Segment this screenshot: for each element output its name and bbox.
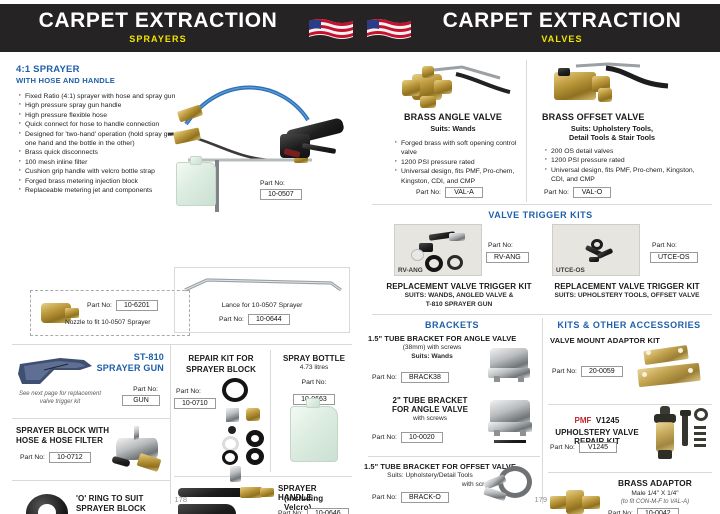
offset-valve-title: BRASS OFFSET VALVE — [542, 112, 702, 122]
list-item: 1200 PSI pressure rated — [542, 156, 702, 165]
offset-valve-card: BRASS OFFSET VALVE Suits: Upholstery Too… — [542, 60, 702, 202]
trigger-kit-photo-label: RV-ANG — [398, 267, 423, 274]
spray-bottle-card: SPRAY BOTTLE 4.73 litres Part No: 10-066… — [274, 350, 354, 472]
part-no-label: Part No: — [219, 316, 244, 323]
repair-kit-title-2: SPRAYER BLOCK — [174, 365, 268, 374]
page-subtitle-right: VALVES — [382, 34, 720, 44]
header-right: CARPET EXTRACTION VALVES — [360, 4, 720, 52]
part-no-label: Part No: — [416, 189, 441, 196]
trigger-kit-caption-1: REPLACEMENT VALVE TRIGGER KIT — [542, 282, 712, 291]
sprayer-gun-note-1: See next page for replacement — [14, 390, 106, 398]
part-no-value[interactable]: VAL-O — [573, 187, 611, 198]
repair-kit-photo — [218, 378, 270, 470]
part-no-value[interactable]: GUN — [122, 395, 160, 406]
page-subtitle-left: SPRAYERS — [0, 34, 338, 44]
offset-valve-feature-list: 200 OS detail valves 1200 PSI pressure r… — [542, 147, 702, 185]
brass-adaptor-card: BRASS ADAPTOR Male 1/4" X 1/4" (to fit C… — [548, 478, 712, 514]
part-no-value[interactable]: 10-0646 — [307, 508, 349, 514]
sprayer-block-photo — [108, 424, 168, 478]
oring-card: 'O' RING TO SUIT SPRAYER BLOCK Part No: … — [12, 488, 170, 514]
header-band: CARPET EXTRACTION SPRAYERS CARPET EXTRAC… — [0, 4, 720, 52]
brackets-heading: BRACKETS — [362, 320, 542, 330]
brass-adaptor-sub-1: Male 1/4" X 1/4" — [600, 489, 710, 498]
oring-title-2: SPRAYER BLOCK — [76, 504, 146, 513]
list-item: Universal design, fits PMF, Pro-chem, Ki… — [542, 166, 702, 185]
sprayer-gun-card: ST-810 SPRAYER GUN See next page for rep… — [12, 350, 168, 414]
trigger-kit-caption-2: SUITS: UPHOLSTERY TOOLS, OFFSET VALVE — [542, 291, 712, 300]
bracket-title-2: FOR ANGLE VALVE — [368, 405, 492, 414]
part-no-value[interactable]: 20-0059 — [581, 366, 623, 377]
bracket-photo — [486, 398, 536, 446]
part-no-value[interactable]: 10-0710 — [174, 398, 216, 409]
part-no-label: Part No: — [260, 180, 285, 187]
sprayer-block-title-2: HOSE & HOSE FILTER — [16, 436, 103, 445]
spray-bottle-subtitle: 4.73 litres — [274, 363, 354, 372]
part-no-label: Part No: — [544, 189, 569, 196]
part-no-label: Part No: — [278, 510, 303, 514]
valve-mount-kit-title: VALVE MOUNT ADAPTOR KIT — [550, 336, 712, 345]
nozzle-card: Part No: 10-6201 Nozzle to fit 10-0507 S… — [30, 290, 190, 336]
angle-valve-card: BRASS ANGLE VALVE Suits: Wands Forged br… — [382, 60, 524, 202]
kits-heading: KITS & OTHER ACCESSORIES — [546, 320, 712, 330]
bracket-card: 1.5" TUBE BRACKET FOR OFFSET VALVE Suits… — [364, 462, 540, 508]
offset-valve-photo — [548, 60, 678, 110]
trigger-kit-card: UTCE-OS Part No: UTCE-OS REPLACEMENT VAL… — [542, 224, 712, 300]
part-no-label: Part No: — [20, 454, 45, 461]
angle-valve-title: BRASS ANGLE VALVE — [382, 112, 524, 122]
repair-kit-card: REPAIR KIT FOR SPRAYER BLOCK Part No: 10… — [174, 350, 268, 472]
part-no-label: Part No: — [372, 434, 397, 441]
list-item: 200 OS detail valves — [542, 147, 702, 156]
offset-valve-subtitle-1: Suits: Upholstery Tools, — [542, 124, 682, 133]
bracket-sub-2: with screws — [364, 480, 496, 489]
bracket-sub-2: Suits: Wands — [368, 352, 496, 361]
part-no-value[interactable]: V1245 — [579, 442, 617, 453]
valve-mount-kit-card: VALVE MOUNT ADAPTOR KIT Part No: 20-0059 — [550, 336, 712, 398]
upholstery-kit-model: V1245 — [596, 416, 620, 425]
usa-flag-icon — [308, 16, 354, 42]
upholstery-kit-photo — [648, 406, 712, 464]
sprayer-part-block: Part No: 10-0507 — [260, 180, 302, 200]
page-title-left: CARPET EXTRACTION — [0, 9, 338, 33]
sprayer-gun-title-1: ST-810 — [134, 352, 164, 362]
list-item: Forged brass with soft opening control v… — [392, 139, 524, 158]
part-no-label: Part No: — [87, 302, 112, 309]
part-no-value[interactable]: VAL-A — [445, 187, 483, 198]
bracket-sub-1: Suits: Upholstery/Detail Tools — [364, 471, 496, 480]
sprayer-block-card: SPRAYER BLOCK WITH HOSE & HOSE FILTER Pa… — [12, 424, 170, 478]
catalog-spread: CARPET EXTRACTION SPRAYERS CARPET EXTRAC… — [0, 0, 720, 514]
trigger-kit-card: RV-ANG Part No: RV-ANG REPLACEMENT VALVE… — [376, 224, 542, 309]
lance-card: Lance for 10-0507 Sprayer Part No: 10-06… — [174, 267, 350, 333]
angle-valve-feature-list: Forged brass with soft opening control v… — [382, 139, 524, 186]
sprayer-block-title-1: SPRAYER BLOCK WITH — [16, 426, 109, 435]
bracket-card: 2" TUBE BRACKET FOR ANGLE VALVE with scr… — [368, 396, 540, 452]
bracket-photo — [484, 464, 536, 506]
part-no-label: Part No: — [274, 379, 354, 386]
usa-flag-icon — [366, 16, 412, 42]
part-no-value[interactable]: BRACK-O — [401, 492, 449, 503]
angle-valve-subtitle: Suits: Wands — [382, 124, 524, 133]
upholstery-repair-kit-card: PMF V1245 UPHOLSTERY VALVE REPAIR KIT Pa… — [548, 410, 712, 466]
spray-bottle-title: SPRAY BOTTLE — [274, 354, 354, 363]
trigger-kit-photo-label: UTCE-OS — [556, 267, 585, 274]
part-no-value[interactable]: 10-6201 — [116, 300, 158, 311]
right-page: BRASS ANGLE VALVE Suits: Wands Forged br… — [362, 52, 719, 510]
bracket-card: 1.5" TUBE BRACKET FOR ANGLE VALVE (38mm)… — [368, 334, 540, 392]
sprayer-handle-card: SPRAYER HANDLE (including Velcro) Part N… — [174, 482, 352, 514]
page-number-left: 178 — [174, 495, 187, 504]
nozzle-caption: Nozzle to fit 10-0507 Sprayer — [65, 319, 150, 326]
left-page: 4:1 SPRAYER WITH HOSE AND HANDLE Fixed R… — [2, 52, 359, 510]
repair-kit-title-1: REPAIR KIT FOR — [174, 354, 268, 363]
list-item: Universal design, fits PMF, Pro-chem, Ki… — [392, 167, 524, 186]
part-no-value[interactable]: BRACK38 — [401, 372, 449, 383]
part-no-label: Part No: — [608, 510, 633, 514]
oring-title-1: 'O' RING TO SUIT — [76, 494, 143, 503]
bracket-sub-1: (38mm) with screws — [368, 343, 496, 352]
page-title-right: CARPET EXTRACTION — [382, 9, 720, 33]
angle-valve-photo — [396, 62, 516, 110]
part-no-label: Part No: — [550, 444, 575, 451]
part-no-label: Part No: — [372, 374, 397, 381]
header-left: CARPET EXTRACTION SPRAYERS — [0, 4, 360, 52]
part-no-label: Part No: — [552, 368, 577, 375]
upholstery-kit-brand: PMF — [575, 416, 592, 425]
lance-caption: Lance for 10-0507 Sprayer — [175, 302, 349, 309]
offset-valve-subtitle-2: Detail Tools & Stair Tools — [542, 133, 682, 142]
page-number-right: 179 — [534, 495, 547, 504]
valve-mount-kit-photo — [634, 348, 712, 396]
part-no-value[interactable]: 10-0507 — [260, 189, 302, 200]
trigger-kit-caption-1: REPLACEMENT VALVE TRIGGER KIT — [376, 282, 542, 291]
valve-trigger-kits-heading: VALVE TRIGGER KITS — [362, 210, 719, 220]
bracket-title-1: 2" TUBE BRACKET — [368, 396, 492, 405]
bracket-sub-1: with screws — [368, 414, 492, 423]
part-no-value[interactable]: 10-0042 — [637, 508, 679, 514]
part-no-label: Part No: — [372, 494, 397, 501]
trigger-kit-caption-2: SUITS: WANDS, ANGLED VALVE & — [376, 291, 542, 300]
bracket-title: 1.5" TUBE BRACKET FOR ANGLE VALVE — [368, 334, 540, 343]
trigger-kit-photo: UTCE-OS — [552, 224, 640, 276]
trigger-kit-photo: RV-ANG — [394, 224, 482, 276]
part-no-value[interactable]: 10-0712 — [49, 452, 91, 463]
sprayer-gun-note-2: valve trigger kit — [14, 398, 106, 406]
bracket-photo — [486, 346, 534, 386]
part-no-value[interactable]: UTCE-OS — [650, 252, 698, 263]
upholstery-kit-title-1: UPHOLSTERY VALVE — [548, 428, 646, 437]
trigger-kit-caption-3: T-810 SPRAYER GUN — [376, 300, 542, 309]
sprayer-gun-title-2: SPRAYER GUN — [97, 363, 164, 373]
brass-adaptor-photo — [548, 486, 604, 514]
list-item: 1200 PSI pressure rated — [392, 158, 524, 167]
part-no-value[interactable]: RV-ANG — [486, 252, 529, 263]
part-no-value[interactable]: 10-0020 — [401, 432, 443, 443]
brass-adaptor-sub-2: (to fit CON-M-F to VAL-A) — [600, 498, 710, 506]
brass-adaptor-title: BRASS ADAPTOR — [600, 478, 710, 488]
part-no-value[interactable]: 10-0644 — [248, 314, 290, 325]
